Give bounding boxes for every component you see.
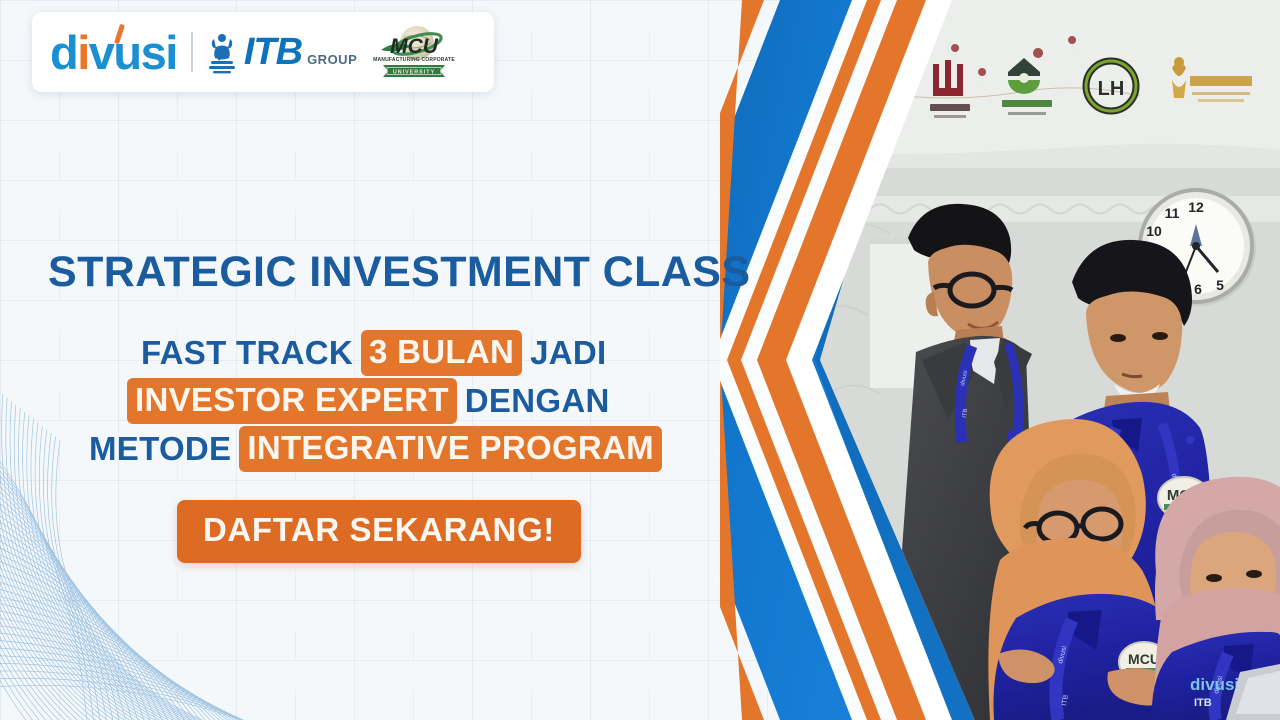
logo-divider: [191, 32, 193, 72]
subline-1-highlight: 3 BULAN: [361, 330, 522, 376]
divusi-letters-si: si: [141, 26, 177, 79]
subline-3: METODE INTEGRATIVE PROGRAM: [84, 426, 665, 472]
subline-2-highlight: INVESTOR EXPERT: [127, 378, 457, 424]
partner-logo-card: divusi ITB GROUP: [32, 12, 494, 92]
subline-3-part-1: METODE: [84, 430, 236, 468]
divusi-letter-u: u: [113, 26, 140, 79]
mcu-tagline: MANUFACTURING CORPORATE: [373, 57, 455, 63]
subline-3-highlight: INTEGRATIVE PROGRAM: [239, 426, 662, 472]
subline-1: FAST TRACK 3 BULAN JADI: [136, 330, 612, 376]
promo-banner: LH: [0, 0, 1280, 720]
copy-block: STRATEGIC INVESTMENT CLASS FAST TRACK 3 …: [0, 0, 760, 720]
divusi-letter-v: v: [89, 26, 114, 79]
subline-2: INVESTOR EXPERT DENGAN: [124, 378, 615, 424]
itb-label: ITB: [244, 33, 302, 71]
itb-ganesha-seal-icon: [207, 30, 237, 74]
subline-2-part-1: DENGAN: [460, 382, 615, 420]
mcu-logo-icon: MCU MANUFACTURING CORPORATE UNIVERSITY: [373, 22, 455, 82]
page-title: STRATEGIC INVESTMENT CLASS: [48, 248, 750, 297]
register-now-button[interactable]: DAFTAR SEKARANG!: [177, 500, 581, 563]
itb-group-suffix: GROUP: [307, 52, 357, 67]
mcu-banner-text: UNIVERSITY: [393, 70, 435, 76]
subline-1-part-2: JADI: [525, 334, 611, 372]
divusi-u-tick-accent: [114, 23, 125, 44]
subline-1-part-1: FAST TRACK: [136, 334, 358, 372]
divusi-letter-d: d: [50, 26, 77, 79]
itb-group-logo: ITB GROUP: [207, 30, 357, 74]
divusi-logo-text: divusi: [50, 29, 177, 76]
divusi-logo: divusi: [50, 29, 177, 76]
mcu-acronym: MCU: [390, 35, 439, 58]
chevron-photo-composition: LH: [720, 0, 1280, 720]
divusi-letter-i-accent: i: [77, 26, 89, 79]
